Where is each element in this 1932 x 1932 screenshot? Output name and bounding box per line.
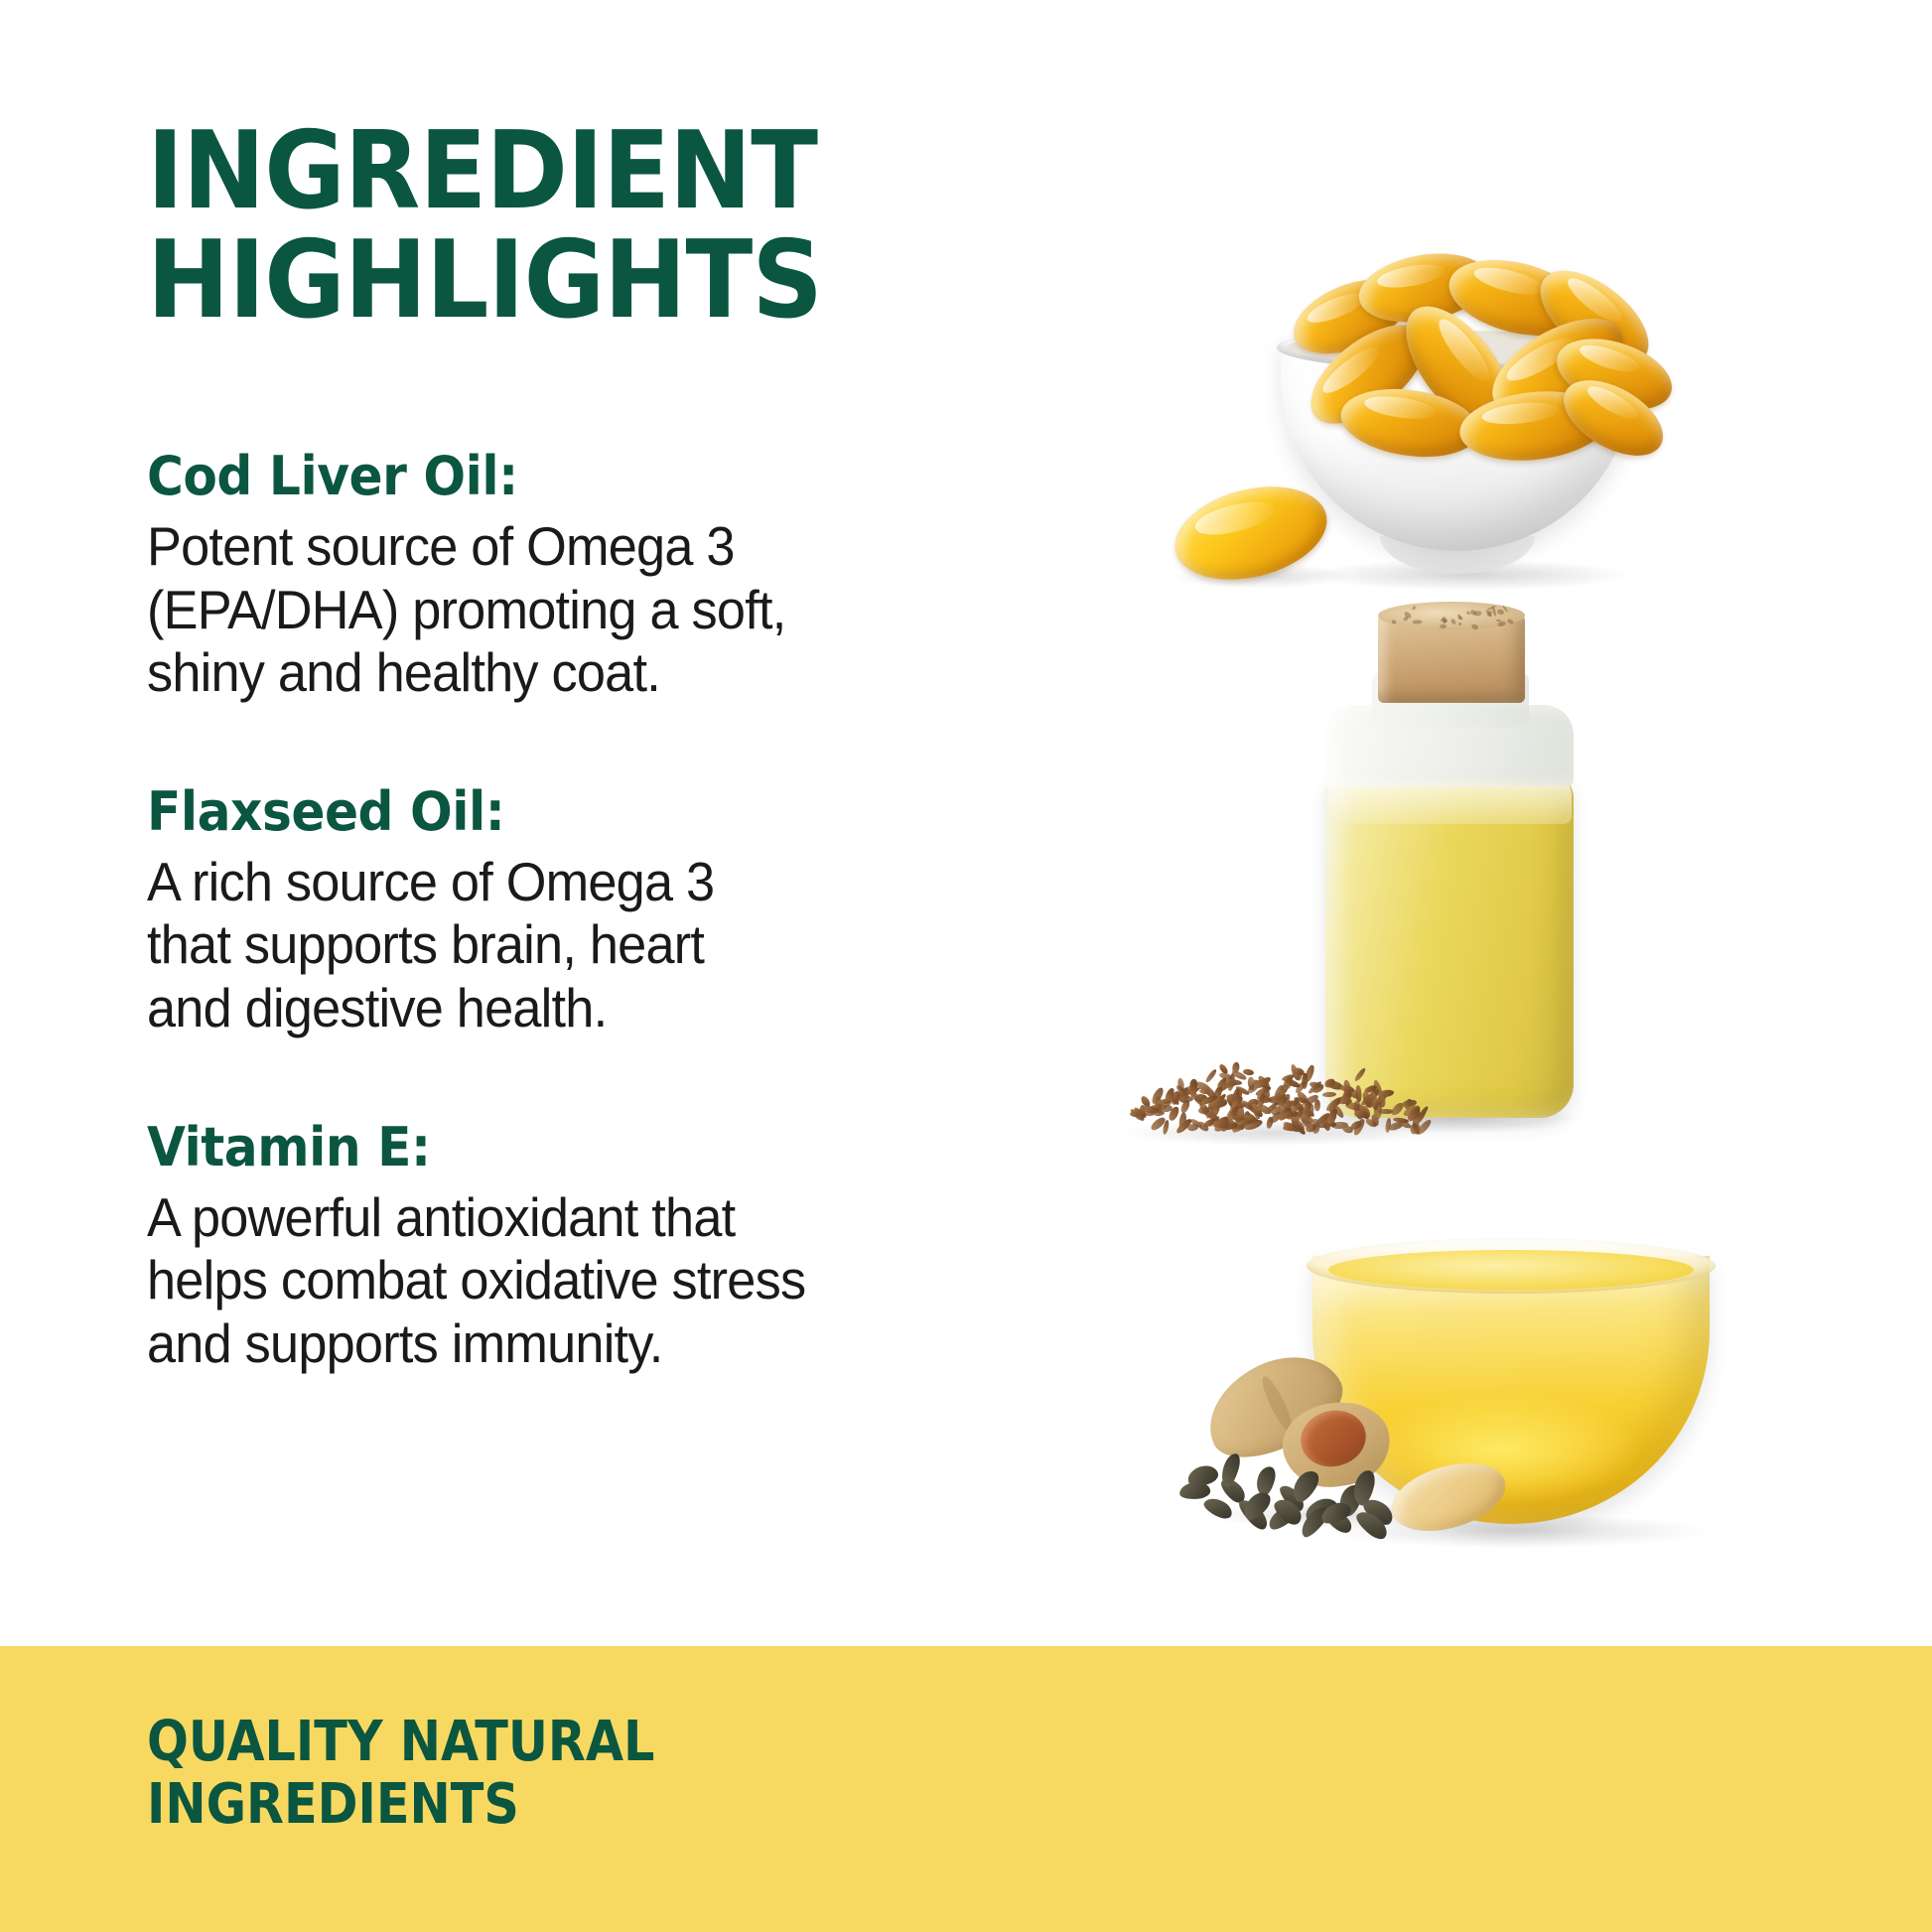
cork-speck (1402, 616, 1409, 622)
flaxseed (1322, 1091, 1336, 1097)
flaxseed-oil-jar-photo (1082, 645, 1777, 1162)
ingredient-description-vitamin-e: A powerful antioxidant that helps combat… (147, 1186, 1025, 1376)
ingredient-block-flaxseed-oil: Flaxseed Oil: A rich source of Omega 3 t… (147, 782, 1070, 1040)
cork-speck (1450, 618, 1457, 624)
oil-surface (1328, 1250, 1694, 1290)
flaxseed (1187, 1123, 1199, 1131)
cork-speck (1506, 618, 1514, 624)
ingredient-description-flaxseed-oil: A rich source of Omega 3 that supports b… (147, 851, 1025, 1040)
flaxseed-pile (1122, 1035, 1420, 1142)
cork-speck (1411, 606, 1416, 611)
page-title: INGREDIENT HIGHLIGHTS (147, 117, 997, 336)
vitamin-e-oil-bowl-photo (1092, 1216, 1787, 1613)
ingredient-highlights-infographic: INGREDIENT HIGHLIGHTS Cod Liver Oil: Pot… (0, 0, 1932, 1932)
cork-speck (1458, 621, 1462, 625)
sunflower-seed (1218, 1451, 1243, 1489)
sunflower-seed (1178, 1480, 1211, 1500)
cork-speck (1391, 620, 1397, 625)
image-column (1082, 0, 1932, 1646)
ingredient-block-cod-liver-oil: Cod Liver Oil: Potent source of Omega 3 … (147, 447, 1070, 705)
flaxseed (1354, 1067, 1368, 1083)
cork-speck (1440, 624, 1447, 629)
cork-speck (1412, 620, 1422, 624)
flaxseed (1204, 1068, 1218, 1084)
quality-banner-text: QUALITY NATURAL INGREDIENTS (147, 1712, 654, 1836)
ingredient-name-flaxseed-oil: Flaxseed Oil: (147, 782, 1006, 842)
cork-top-face (1378, 602, 1525, 629)
cod-liver-oil-capsules-photo (1092, 194, 1708, 591)
ingredient-description-cod-liver-oil: Potent source of Omega 3 (EPA/DHA) promo… (147, 515, 1025, 705)
flaxseed (1314, 1099, 1321, 1111)
ingredients-list: Cod Liver Oil: Potent source of Omega 3 … (147, 447, 1070, 1376)
ingredient-block-vitamin-e: Vitamin E: A powerful antioxidant that h… (147, 1118, 1070, 1376)
ingredient-name-cod-liver-oil: Cod Liver Oil: (147, 447, 1006, 506)
ingredient-name-vitamin-e: Vitamin E: (147, 1118, 1006, 1177)
text-column: INGREDIENT HIGHLIGHTS Cod Liver Oil: Pot… (147, 117, 1070, 1376)
quality-banner: QUALITY NATURAL INGREDIENTS (0, 1646, 1932, 1932)
